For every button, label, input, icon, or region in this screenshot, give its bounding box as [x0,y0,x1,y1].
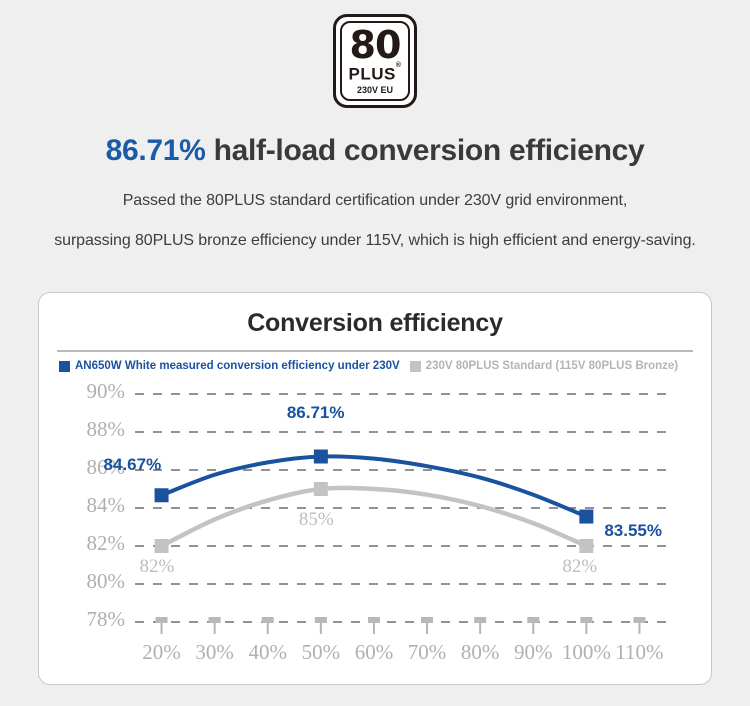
y-axis-tick-label: 82% [39,531,125,556]
y-axis-tick-label: 78% [39,607,125,632]
y-axis-tick-label: 88% [39,417,125,442]
data-point-label: 85% [299,509,334,531]
legend-item-standard: 230V 80PLUS Standard (115V 80PLUS Bronze… [410,360,678,372]
chart-legend: AN650W White measured conversion efficie… [39,352,711,372]
headline-efficiency-value: 86.71% [106,134,206,167]
subtitle-line-1: Passed the 80PLUS standard certification… [0,192,750,210]
subtitle-block: Passed the 80PLUS standard certification… [0,192,750,250]
y-axis-tick-label: 80% [39,569,125,594]
data-point-label: 82% [562,556,597,578]
badge-plus-label: PLUS [348,65,395,84]
badge-plus-text: PLUS® [348,63,401,84]
legend-swatch-blue-icon [59,361,70,372]
legend-item-measured: AN650W White measured conversion efficie… [59,360,400,372]
data-point-label: 82% [140,556,175,578]
headline-rest-text: half-load conversion efficiency [206,134,645,167]
data-point-label: 86.71% [287,403,345,423]
badge-voltage-text: 230V EU [357,85,393,96]
x-axis-tick-label: 110% [604,640,674,665]
chart-title: Conversion efficiency [39,293,711,338]
subtitle-line-2: surpassing 80PLUS bronze efficiency unde… [0,232,750,250]
80-plus-logo: 80 PLUS® 230V EU [333,14,417,108]
chart-plot-area: 90%88%86%84%82%80%78%20%30%40%50%60%70%8… [39,372,713,672]
data-point-label: 83.55% [604,521,662,541]
data-point-label: 84.67% [104,455,162,475]
y-axis-tick-label: 84% [39,493,125,518]
legend-label-standard: 230V 80PLUS Standard (115V 80PLUS Bronze… [426,360,678,372]
legend-label-measured: AN650W White measured conversion efficie… [75,360,400,372]
page-title: 86.71% half-load conversion efficiency [0,134,750,168]
badge-container: 80 PLUS® 230V EU [0,0,750,108]
y-axis-tick-label: 90% [39,379,125,404]
badge-eighty-text: 80 [350,28,401,62]
chart-panel: Conversion efficiency AN650W White measu… [38,292,712,685]
badge-registered-mark: ® [396,62,402,69]
legend-swatch-grey-icon [410,361,421,372]
